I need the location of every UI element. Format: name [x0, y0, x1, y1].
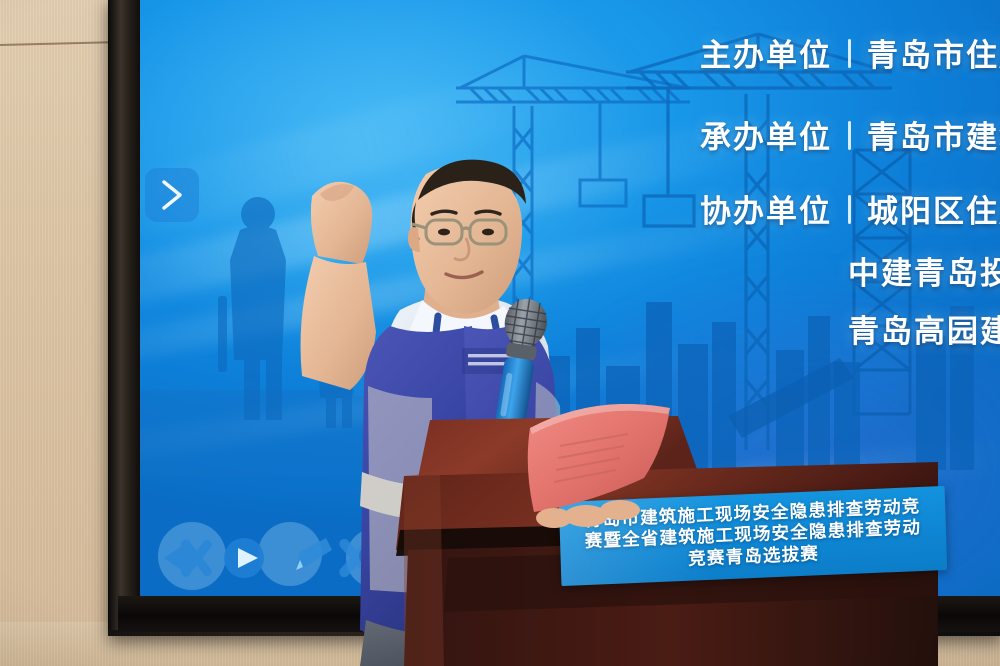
led-screen-bezel-left-face	[108, 0, 140, 630]
screen-line-host-value: 青岛市住房和城乡	[867, 38, 1000, 74]
screen-line-organizer-label: 承办单位	[700, 120, 832, 156]
raised-fist-arm	[301, 182, 377, 390]
screen-line-coorganizer-extra-1: 中建青岛投资建设有	[848, 248, 1000, 293]
wall-seam	[0, 41, 116, 46]
screen-line-coorganizer-label: 协办单位	[700, 194, 832, 230]
screen-line-divider	[848, 121, 851, 150]
screen-line-host: 主办单位青岛市住房和城乡	[700, 30, 1000, 75]
conference-photo-scene: 主办单位青岛市住房和城乡 承办单位青岛市建筑施工安 协办单位城阳区住房和城市 中…	[0, 0, 1000, 666]
screen-line-organizer-value: 青岛市建筑施工安	[867, 120, 1000, 156]
ear	[408, 227, 420, 252]
wall-panel-left	[0, 0, 116, 666]
screen-line-coorganizer-value: 城阳区住房和城市	[867, 194, 1000, 230]
speech-document	[524, 404, 676, 530]
screen-line-host-label: 主办单位	[700, 38, 832, 74]
screen-line-organizer: 承办单位青岛市建筑施工安	[700, 112, 1000, 157]
chevron-right-icon[interactable]	[145, 168, 199, 222]
screen-line-coorganizer: 协办单位城阳区住房和城市	[700, 186, 1000, 231]
screen-line-divider	[848, 39, 851, 68]
screen-line-coorganizer-extra-2: 青岛高园建设咨询	[848, 306, 1000, 351]
screen-line-divider	[848, 195, 851, 224]
